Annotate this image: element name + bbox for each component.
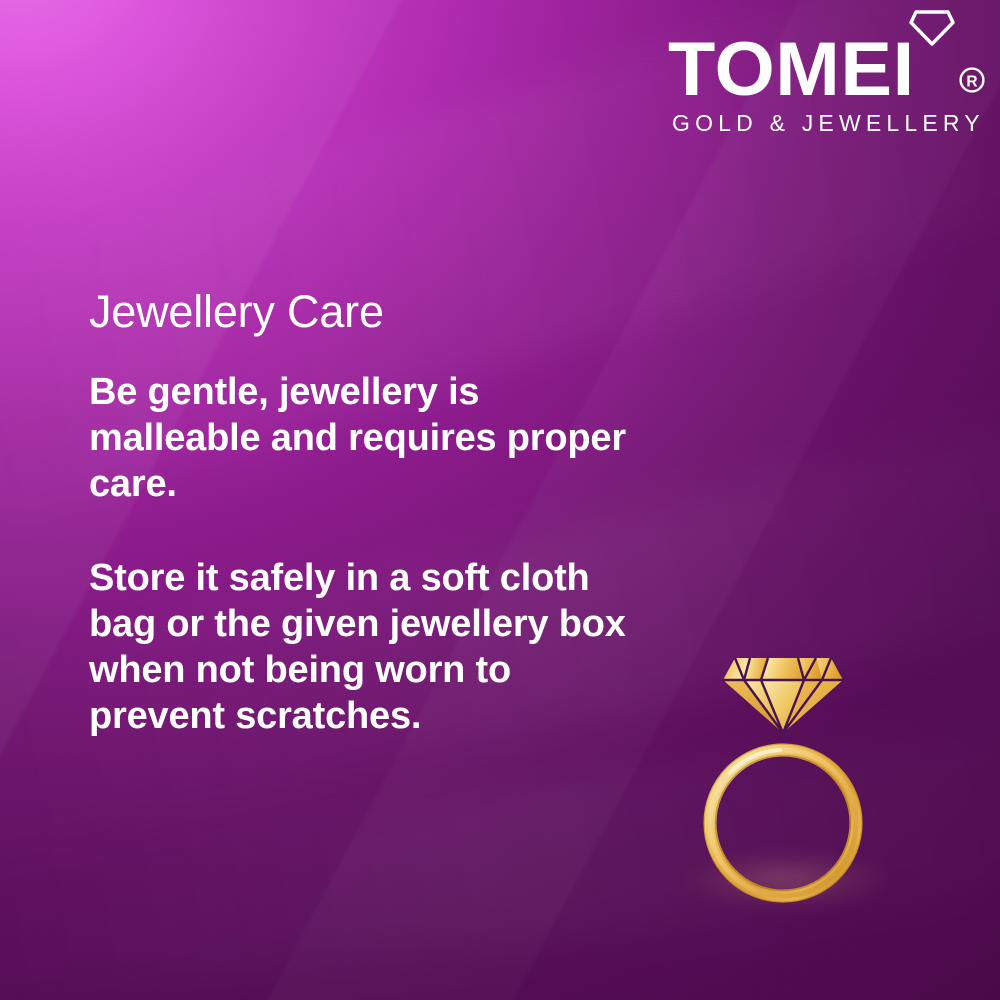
care-paragraph-2: Store it safely in a soft cloth bag or t… [89,555,649,739]
brand-logo: TOMEI R GOLD & JEWELLERY [668,10,990,102]
care-paragraph-1: Be gentle, jewellery is malleable and re… [89,369,649,507]
svg-text:R: R [966,73,977,90]
diamond-outline-icon [909,10,955,46]
page-title: Jewellery Care [89,288,669,335]
logo-tagline-text: GOLD & JEWELLERY [672,110,985,137]
logo-wordmark-row: TOMEI R [668,10,990,102]
gold-diamond-ring-illustration [688,640,878,925]
ring-svg [688,640,878,925]
logo-wordmark-text: TOMEI [668,32,915,108]
faceted-diamond-icon [723,658,843,733]
ring-band-icon [704,744,862,902]
registered-trademark-icon: R [958,66,986,94]
care-copy-block: Jewellery Care Be gentle, jewellery is m… [89,288,669,739]
jewellery-care-card: TOMEI R GOLD & JEWELLERY Jewellery Care … [0,0,1000,1000]
